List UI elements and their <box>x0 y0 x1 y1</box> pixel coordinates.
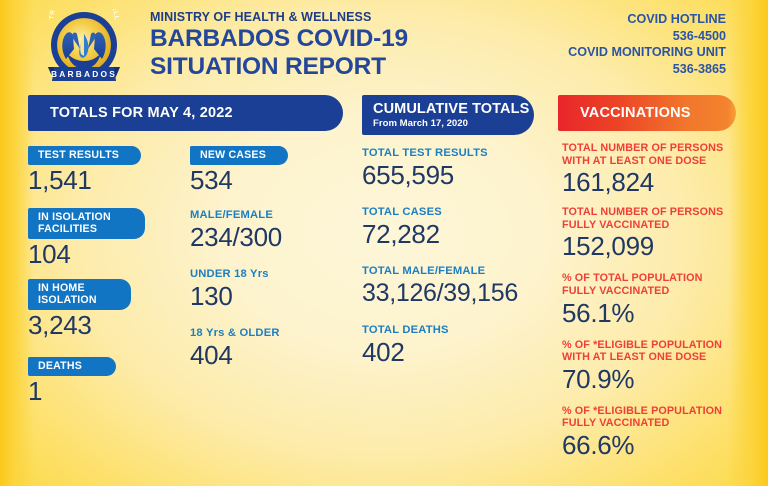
stat-total-cases: TOTAL CASES 72,282 <box>362 206 552 249</box>
stat-pct-total-population-fully-vaccinated: % OF TOTAL POPULATION FULLY VACCINATED 5… <box>562 272 762 327</box>
monitoring-unit-label: COVID MONITORING UNIT <box>568 44 726 61</box>
stat-total-male-female-label: TOTAL MALE/FEMALE <box>362 265 552 278</box>
stat-under-18-value: 130 <box>190 281 350 311</box>
stat-new-cases-value: 534 <box>190 165 350 195</box>
page-title-line-2: SITUATION REPORT <box>150 53 450 81</box>
stat-pct-eligible-fully-vaccinated-label: % OF *ELIGIBLE POPULATION FULLY VACCINAT… <box>562 405 762 430</box>
stat-pct-eligible-one-dose-label-line-1: % OF *ELIGIBLE POPULATION <box>562 339 722 351</box>
stat-total-deaths: TOTAL DEATHS 402 <box>362 324 552 367</box>
stat-total-deaths-value: 402 <box>362 337 552 367</box>
stat-total-cases-value: 72,282 <box>362 219 552 249</box>
stat-pct-eligible-one-dose: % OF *ELIGIBLE POPULATION WITH AT LEAST … <box>562 339 762 394</box>
stat-deaths: DEATHS 1 <box>28 356 178 406</box>
stat-total-test-results: TOTAL TEST RESULTS 655,595 <box>362 147 552 190</box>
stat-in-home-isolation: IN HOME ISOLATION 3,243 <box>28 279 178 340</box>
ministry-name: MINISTRY OF HEALTH & WELLNESS <box>150 10 450 25</box>
stat-at-least-one-dose-label-line-1: TOTAL NUMBER OF PERSONS <box>562 142 723 154</box>
cumulative-totals-column: TOTAL TEST RESULTS 655,595 TOTAL CASES 7… <box>362 147 552 367</box>
stat-in-isolation-facilities-label-line-1: IN ISOLATION <box>38 211 111 223</box>
stat-total-test-results-label: TOTAL TEST RESULTS <box>362 147 552 160</box>
stat-fully-vaccinated-label-line-1: TOTAL NUMBER OF PERSONS <box>562 206 723 218</box>
stat-18-and-older-label: 18 Yrs & OLDER <box>190 327 350 340</box>
stat-total-male-female-value: 33,126/39,156 <box>362 278 552 308</box>
stat-at-least-one-dose-label: TOTAL NUMBER OF PERSONS WITH AT LEAST ON… <box>562 142 762 167</box>
stat-total-test-results-value: 655,595 <box>362 160 552 190</box>
covid-hotline-label: COVID HOTLINE <box>568 11 726 28</box>
stat-fully-vaccinated-label: TOTAL NUMBER OF PERSONS FULLY VACCINATED <box>562 206 762 231</box>
covid-hotline-number: 536-4500 <box>568 28 726 45</box>
stat-pct-eligible-fully-vaccinated-value: 66.6% <box>562 430 762 460</box>
cumulative-totals-banner-label: CUMULATIVE TOTALS <box>373 101 534 118</box>
stat-in-isolation-facilities-value: 104 <box>28 239 178 269</box>
stat-pct-eligible-one-dose-value: 70.9% <box>562 364 762 394</box>
stat-in-home-isolation-label: IN HOME ISOLATION <box>28 279 131 310</box>
situation-report-infographic: MINISTRY OF HEALTH AND WELLNESS BARBADOS… <box>0 0 768 486</box>
stat-pct-eligible-one-dose-label: % OF *ELIGIBLE POPULATION WITH AT LEAST … <box>562 339 762 364</box>
stat-under-18-label: UNDER 18 Yrs <box>190 268 350 281</box>
stat-test-results: TEST RESULTS 1,541 <box>28 145 178 195</box>
stat-test-results-value: 1,541 <box>28 165 178 195</box>
vaccinations-banner: VACCINATIONS <box>558 95 736 131</box>
stat-18-and-older-value: 404 <box>190 340 350 370</box>
stat-male-female: MALE/FEMALE 234/300 <box>190 209 350 252</box>
cumulative-totals-banner-subtitle: From March 17, 2020 <box>373 118 534 130</box>
vaccinations-banner-label: VACCINATIONS <box>580 105 736 121</box>
stat-in-home-isolation-label-line-2: ISOLATION <box>38 294 97 306</box>
stat-male-female-value: 234/300 <box>190 222 350 252</box>
stat-in-isolation-facilities: IN ISOLATION FACILITIES 104 <box>28 208 178 269</box>
stat-under-18: UNDER 18 Yrs 130 <box>190 268 350 311</box>
stat-at-least-one-dose-label-line-2: WITH AT LEAST ONE DOSE <box>562 155 706 167</box>
stat-18-and-older: 18 Yrs & OLDER 404 <box>190 327 350 370</box>
stat-pct-eligible-fully-vaccinated-label-line-1: % OF *ELIGIBLE POPULATION <box>562 405 722 417</box>
stat-at-least-one-dose: TOTAL NUMBER OF PERSONS WITH AT LEAST ON… <box>562 142 762 197</box>
stat-fully-vaccinated-value: 152,099 <box>562 231 762 261</box>
stat-pct-eligible-fully-vaccinated: % OF *ELIGIBLE POPULATION FULLY VACCINAT… <box>562 405 762 460</box>
stat-in-isolation-facilities-label-line-2: FACILITIES <box>38 223 97 235</box>
stat-fully-vaccinated: TOTAL NUMBER OF PERSONS FULLY VACCINATED… <box>562 206 762 261</box>
stat-total-male-female: TOTAL MALE/FEMALE 33,126/39,156 <box>362 265 552 308</box>
report-header: MINISTRY OF HEALTH & WELLNESS BARBADOS C… <box>150 10 450 81</box>
stat-pct-total-population-label-line-2: FULLY VACCINATED <box>562 285 669 297</box>
stat-male-female-label: MALE/FEMALE <box>190 209 350 222</box>
stat-pct-total-population-fully-vaccinated-value: 56.1% <box>562 298 762 328</box>
daily-totals-banner-label: TOTALS FOR MAY 4, 2022 <box>50 105 343 121</box>
stat-new-cases: NEW CASES 534 <box>190 145 350 195</box>
page-title-line-1: BARBADOS COVID-19 <box>150 25 450 53</box>
stat-at-least-one-dose-value: 161,824 <box>562 167 762 197</box>
stat-total-cases-label: TOTAL CASES <box>362 206 552 219</box>
stat-fully-vaccinated-label-line-2: FULLY VACCINATED <box>562 219 669 231</box>
daily-totals-left-column: TEST RESULTS 1,541 IN ISOLATION FACILITI… <box>28 145 178 406</box>
stat-total-deaths-label: TOTAL DEATHS <box>362 324 552 337</box>
stat-test-results-label: TEST RESULTS <box>28 146 141 165</box>
stat-pct-eligible-one-dose-label-line-2: WITH AT LEAST ONE DOSE <box>562 351 706 363</box>
daily-totals-banner: TOTALS FOR MAY 4, 2022 <box>28 95 343 131</box>
stat-deaths-value: 1 <box>28 376 178 406</box>
stat-pct-eligible-fully-vaccinated-label-line-2: FULLY VACCINATED <box>562 417 669 429</box>
stat-deaths-label: DEATHS <box>28 357 116 376</box>
stat-pct-total-population-label-line-1: % OF TOTAL POPULATION <box>562 272 702 284</box>
vaccinations-column: TOTAL NUMBER OF PERSONS WITH AT LEAST ON… <box>562 142 762 460</box>
stat-pct-total-population-fully-vaccinated-label: % OF TOTAL POPULATION FULLY VACCINATED <box>562 272 762 297</box>
stat-in-home-isolation-value: 3,243 <box>28 310 178 340</box>
contact-info-block: COVID HOTLINE 536-4500 COVID MONITORING … <box>568 11 726 77</box>
svg-text:BARBADOS: BARBADOS <box>51 69 117 79</box>
stat-in-isolation-facilities-label: IN ISOLATION FACILITIES <box>28 208 145 239</box>
monitoring-unit-number: 536-3865 <box>568 61 726 78</box>
cumulative-totals-banner: CUMULATIVE TOTALS From March 17, 2020 <box>362 95 534 135</box>
stat-new-cases-label: NEW CASES <box>190 146 288 165</box>
stat-in-home-isolation-label-line-1: IN HOME <box>38 282 85 294</box>
daily-totals-right-column: NEW CASES 534 MALE/FEMALE 234/300 UNDER … <box>190 145 350 370</box>
ministry-crest-logo: MINISTRY OF HEALTH AND WELLNESS BARBADOS <box>34 9 134 87</box>
